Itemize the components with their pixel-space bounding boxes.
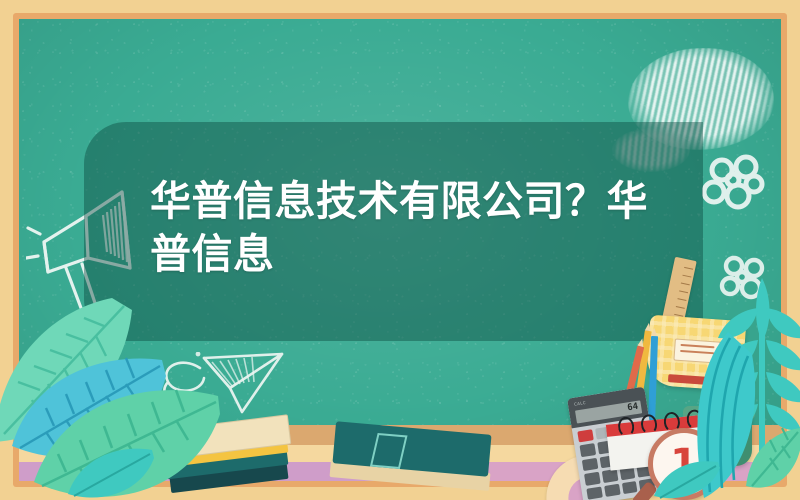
calculator-key <box>586 486 602 500</box>
calculator-key <box>621 481 637 495</box>
leaf-icon <box>66 444 156 500</box>
calculator-brand: CALC <box>574 400 587 407</box>
page-title: 华普信息技术有限公司？华普信息 <box>150 175 670 282</box>
leaf-icon <box>652 458 722 500</box>
calculator-key <box>602 469 618 483</box>
page-title-text: 华普信息技术有限公司？华普信息 <box>150 175 670 282</box>
book-cover-emblem <box>370 433 408 469</box>
calculator-key <box>604 483 620 497</box>
calculator-key <box>577 429 593 443</box>
calculator-key <box>580 443 596 457</box>
calculator-key <box>582 458 598 472</box>
flower-icon <box>702 152 768 216</box>
leaf-icon <box>744 424 800 500</box>
calculator-key <box>584 472 600 486</box>
banner-canvas: 华普信息技术有限公司？华普信息 CALC 64 <box>0 0 800 500</box>
